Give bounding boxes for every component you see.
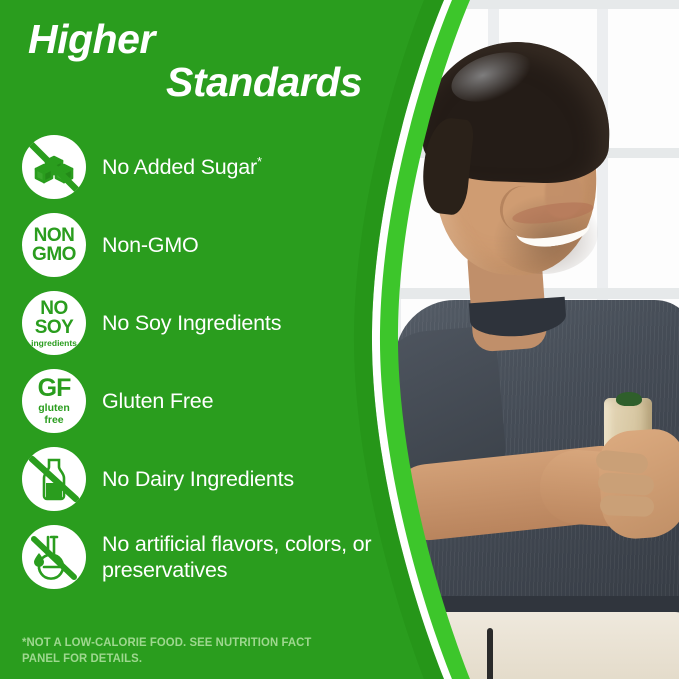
badge-line-1: NON	[34, 226, 75, 245]
badge-line-1: NO	[40, 299, 68, 318]
badge-subtext: gluten free	[38, 403, 70, 425]
benefit-no-soy: NO SOY ingredients No Soy Ingredients	[22, 284, 392, 362]
flask-droplet-slash-glyph	[22, 525, 86, 589]
no-added-sugar-icon	[22, 135, 86, 199]
badge-line-2: GMO	[32, 245, 76, 264]
milk-bottle-slash-glyph	[22, 447, 86, 511]
benefits-list: No Added Sugar* NON GMO Non-GMO NO SOY i…	[22, 128, 392, 596]
benefit-gluten-free: GF gluten free Gluten Free	[22, 362, 392, 440]
benefit-no-dairy: No Dairy Ingredients	[22, 440, 392, 518]
title-line-2: Standards	[28, 61, 368, 104]
gluten-free-icon: GF gluten free	[22, 369, 86, 433]
badge-subtext: ingredients	[31, 339, 77, 348]
benefit-label: No artificial flavors, colors, or preser…	[102, 531, 392, 583]
benefit-label: Gluten Free	[102, 388, 213, 414]
benefit-no-artificial: No artificial flavors, colors, or preser…	[22, 518, 392, 596]
footnote-disclaimer: *NOT A LOW-CALORIE FOOD. SEE NUTRITION F…	[22, 634, 338, 667]
title-line-1: Higher	[28, 16, 155, 62]
no-artificial-icon	[22, 525, 86, 589]
badge-line-1: GF	[38, 376, 71, 401]
benefit-non-gmo: NON GMO Non-GMO	[22, 206, 392, 284]
page-title: Higher Standards	[28, 18, 368, 104]
asterisk-marker: *	[257, 154, 262, 169]
benefit-label: No Soy Ingredients	[102, 310, 281, 336]
non-gmo-icon: NON GMO	[22, 213, 86, 277]
benefit-label: No Added Sugar*	[102, 154, 262, 180]
product-feature-image: Higher Standards	[0, 0, 679, 679]
benefit-label: No Dairy Ingredients	[102, 466, 294, 492]
benefit-no-added-sugar: No Added Sugar*	[22, 128, 392, 206]
no-dairy-icon	[22, 447, 86, 511]
sugar-cubes-slash-glyph	[22, 135, 86, 199]
badge-line-2: SOY	[35, 318, 74, 337]
no-soy-icon: NO SOY ingredients	[22, 291, 86, 355]
benefit-label: Non-GMO	[102, 232, 199, 258]
panel-content: Higher Standards	[0, 0, 400, 679]
